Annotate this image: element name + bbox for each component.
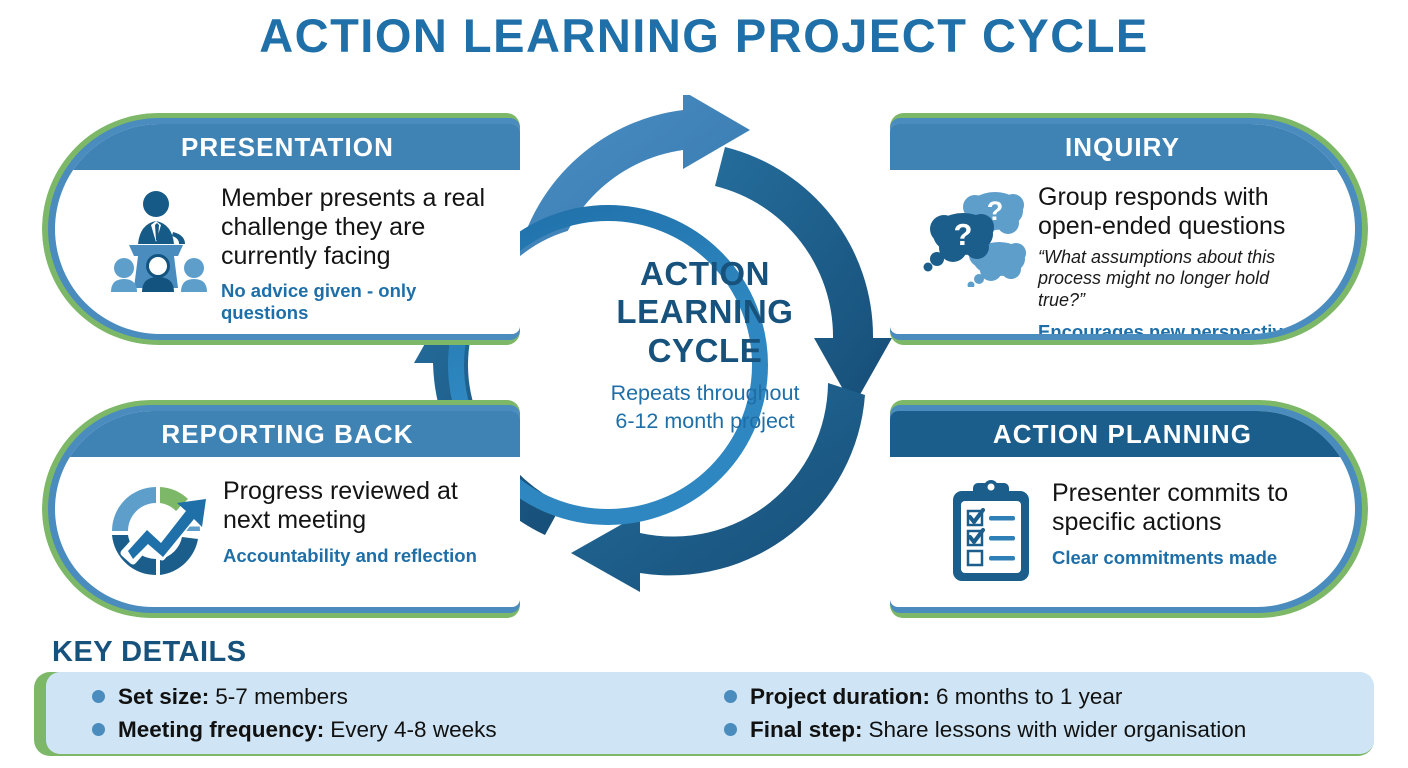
key-details-heading: KEY DETAILS bbox=[52, 636, 247, 669]
key-value: Share lessons with wider organisation bbox=[869, 717, 1247, 743]
panel-note-action-planning: Clear commitments made bbox=[1052, 547, 1312, 569]
key-value: Every 4-8 weeks bbox=[330, 717, 496, 743]
speaker-podium-audience-icon bbox=[107, 184, 215, 292]
panel-note-presentation: No advice given - only questions bbox=[221, 280, 451, 324]
key-label: Project duration: bbox=[750, 684, 930, 710]
key-label: Final step: bbox=[750, 717, 863, 743]
panel-note-inquiry: Encourages new perspectives bbox=[1038, 321, 1311, 334]
key-details-left-column: Set size: 5-7 members Meeting frequency:… bbox=[92, 684, 724, 743]
panel-quote-inquiry: “What assumptions about this process mig… bbox=[1038, 247, 1311, 312]
bullet-icon bbox=[92, 690, 105, 703]
progress-growth-chart-icon bbox=[95, 477, 217, 581]
list-item: Project duration: 6 months to 1 year bbox=[724, 684, 1356, 710]
key-details-box: Set size: 5-7 members Meeting frequency:… bbox=[46, 672, 1374, 754]
bullet-icon bbox=[724, 723, 737, 736]
panel-inquiry[interactable]: INQUIRY ? bbox=[890, 113, 1368, 345]
panel-action-planning[interactable]: ACTION PLANNING bbox=[890, 400, 1368, 618]
bullet-icon bbox=[92, 723, 105, 736]
bullet-icon bbox=[724, 690, 737, 703]
panel-header-action-planning: ACTION PLANNING bbox=[890, 411, 1355, 457]
page-title: ACTION LEARNING PROJECT CYCLE bbox=[0, 8, 1408, 63]
panel-presentation[interactable]: PRESENTATION bbox=[42, 113, 520, 345]
panel-main-inquiry: Group responds with open-ended questions bbox=[1038, 183, 1308, 241]
key-value: 6 months to 1 year bbox=[936, 684, 1122, 710]
key-label: Meeting frequency: bbox=[118, 717, 324, 743]
panel-header-reporting-back: REPORTING BACK bbox=[55, 411, 520, 457]
panel-main-reporting-back: Progress reviewed at next meeting bbox=[223, 477, 483, 535]
panel-note-reporting-back: Accountability and reflection bbox=[223, 545, 504, 567]
key-label: Set size: bbox=[118, 684, 209, 710]
question-thought-bubbles-icon: ? bbox=[920, 183, 1032, 287]
key-details-right-column: Project duration: 6 months to 1 year Fin… bbox=[724, 684, 1356, 743]
panel-main-presentation: Member presents a real challenge they ar… bbox=[221, 184, 499, 270]
panel-header-inquiry: INQUIRY bbox=[890, 124, 1355, 170]
panel-reporting-back[interactable]: REPORTING BACK Progress reviewed at ne bbox=[42, 400, 520, 618]
list-item: Set size: 5-7 members bbox=[92, 684, 724, 710]
svg-text:?: ? bbox=[954, 217, 973, 252]
list-item: Final step: Share lessons with wider org… bbox=[724, 717, 1356, 743]
list-item: Meeting frequency: Every 4-8 weeks bbox=[92, 717, 724, 743]
panel-header-presentation: PRESENTATION bbox=[55, 124, 520, 170]
panel-main-action-planning: Presenter commits to specific actions bbox=[1052, 479, 1312, 537]
key-value: 5-7 members bbox=[215, 684, 348, 710]
clipboard-checklist-icon bbox=[938, 479, 1046, 583]
